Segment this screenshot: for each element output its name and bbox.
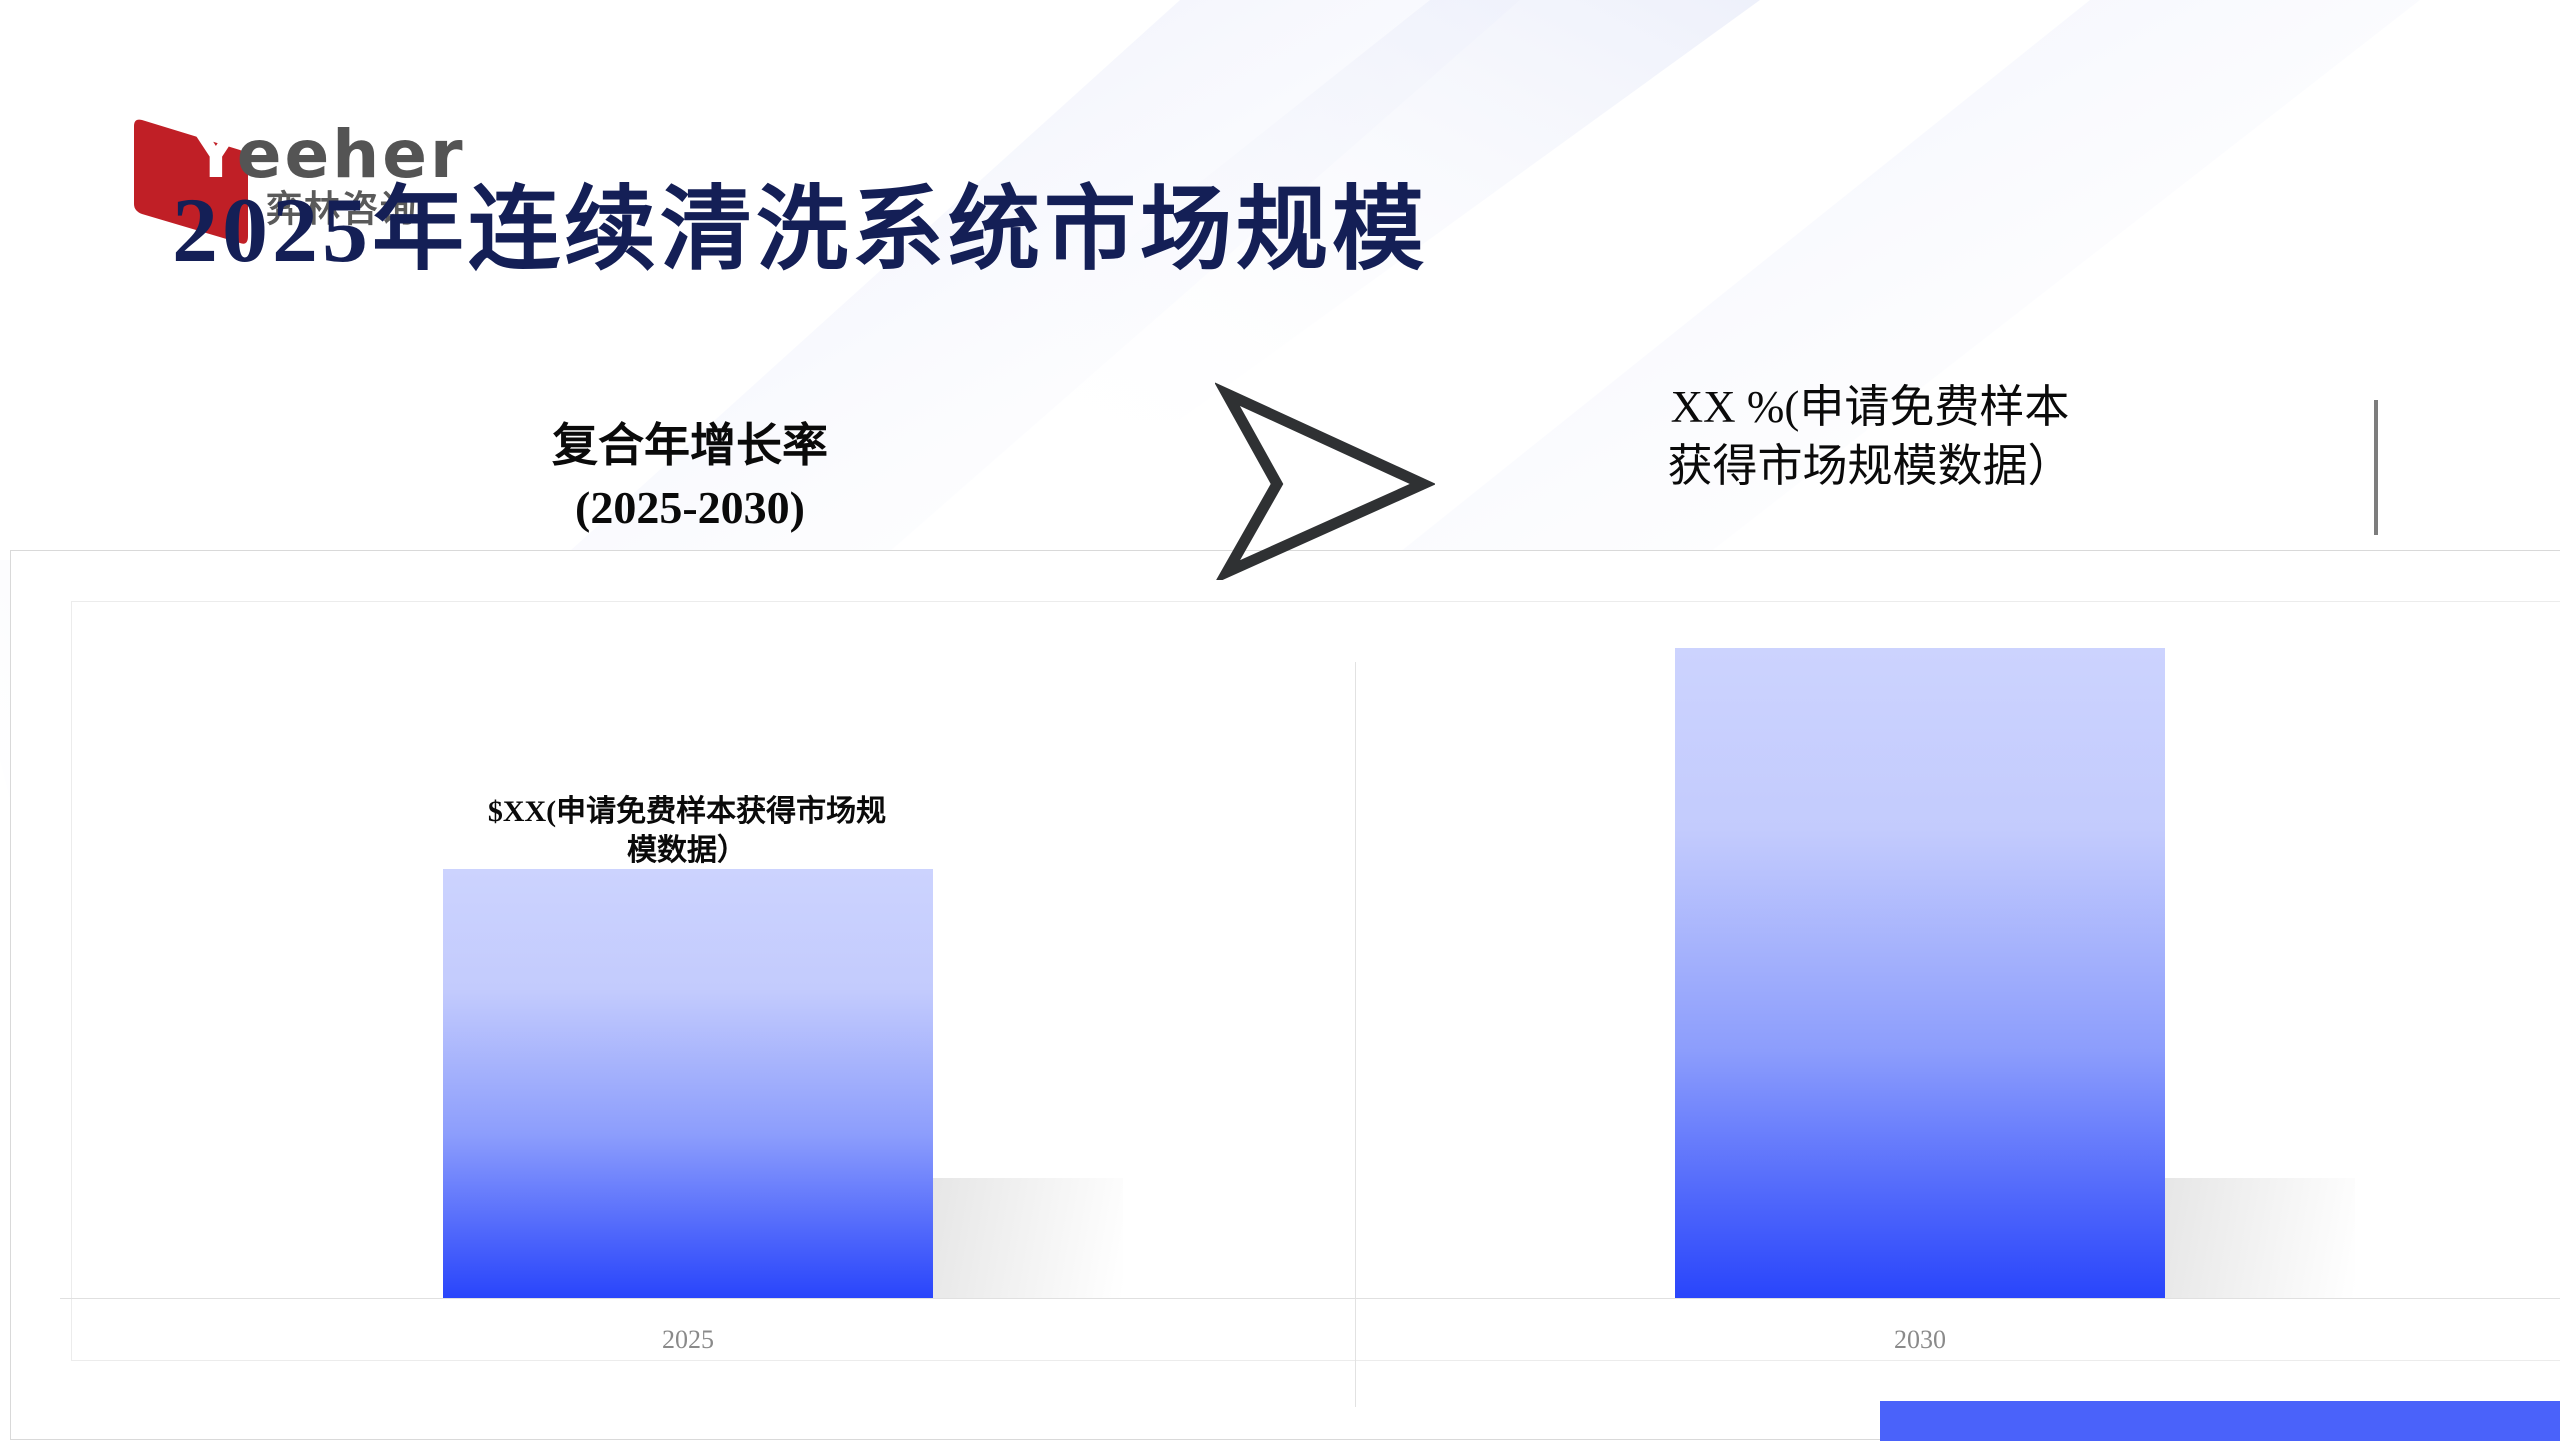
cagr-label: 复合年增长率 (2025-2030) bbox=[430, 415, 950, 539]
cagr-value-line1: XX %(申请免费样本 bbox=[1600, 378, 2140, 437]
cagr-label-line2: (2025-2030) bbox=[430, 477, 950, 539]
x-tick-2030: 2030 bbox=[1770, 1325, 2070, 1355]
bar-value-label-2025: $XX(申请免费样本获得市场规 模数据） bbox=[437, 792, 937, 870]
bar-2030 bbox=[1675, 648, 2165, 1298]
bar-fill bbox=[1675, 648, 2165, 1298]
bar-shadow bbox=[933, 1178, 1123, 1298]
plot-category-divider bbox=[1355, 662, 1356, 1407]
bar-fill bbox=[443, 869, 933, 1298]
chart-baseline bbox=[60, 1298, 2560, 1299]
cagr-value-line2: 获得市场规模数据） bbox=[1600, 437, 2140, 496]
vertical-divider bbox=[2374, 400, 2378, 535]
cagr-label-line1: 复合年增长率 bbox=[430, 415, 950, 477]
chart-panel bbox=[10, 550, 2560, 1440]
arrow-right-outline-icon bbox=[1215, 380, 1435, 580]
footer-accent-bar bbox=[1880, 1401, 2560, 1441]
bar-value-label-2025-line2: 模数据） bbox=[437, 831, 937, 870]
cagr-value-annotation: XX %(申请免费样本 获得市场规模数据） bbox=[1600, 378, 2140, 497]
bar-2025 bbox=[443, 869, 933, 1298]
bar-shadow bbox=[2165, 1178, 2355, 1298]
bar-value-label-2025-line1: $XX(申请免费样本获得市场规 bbox=[437, 792, 937, 831]
x-tick-2025: 2025 bbox=[538, 1325, 838, 1355]
page-title: 2025年连续清洗系统市场规模 bbox=[0, 155, 2080, 288]
